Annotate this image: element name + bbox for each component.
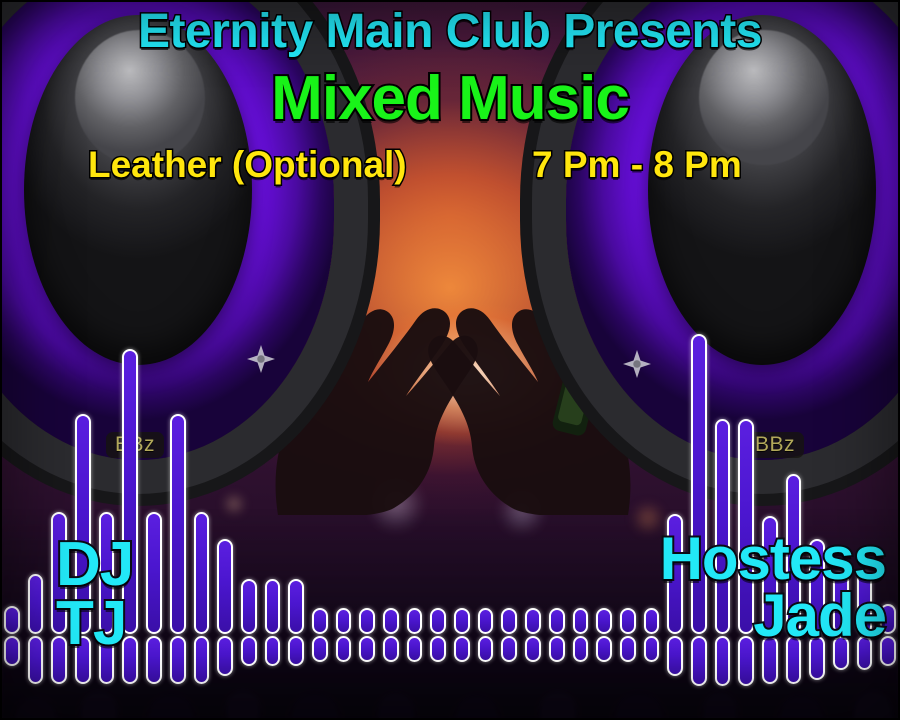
dress-code-label: Leather (Optional)	[88, 146, 407, 183]
watermark-badge-right: BBz	[746, 432, 804, 458]
sparkle-icon	[247, 345, 275, 373]
event-time-label: 7 Pm - 8 Pm	[532, 146, 742, 183]
hostess-role-label: Hostess	[660, 530, 886, 587]
dj-credit: DJ TJ	[56, 536, 133, 654]
sparkle-icon	[623, 350, 651, 378]
footer-links: hop://login.digiworldz.com:8002/Rock Cit…	[0, 644, 900, 720]
dj-role-label: DJ	[56, 536, 133, 595]
hostess-name-label: Jade	[660, 587, 886, 644]
hostess-credit: Hostess Jade	[660, 530, 886, 644]
event-flyer: BBz BBz Eternity Main Club Presents Mixe…	[0, 0, 900, 720]
headline-presents: Eternity Main Club Presents	[0, 8, 900, 56]
page-title: Mixed Music	[0, 68, 900, 130]
watermark-badge-left: BBz	[106, 432, 164, 458]
